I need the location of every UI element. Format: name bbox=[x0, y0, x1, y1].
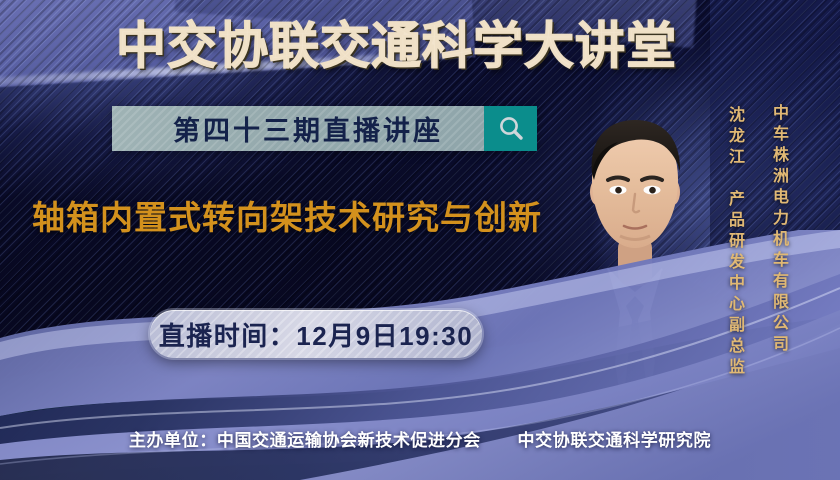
speaker-organization: 中车株洲电力机车有限公司 bbox=[766, 104, 790, 354]
page-title: 中交协联交通科学大讲堂 bbox=[116, 16, 716, 78]
broadcast-time-badge: 直播时间：12月9日19:30 bbox=[150, 310, 482, 358]
session-banner: 第四十三期直播讲座 bbox=[112, 106, 537, 151]
organizer-secondary: 中交协联交通科学研究院 bbox=[518, 431, 712, 450]
search-button[interactable] bbox=[484, 106, 537, 151]
search-icon bbox=[496, 114, 526, 144]
organizer-footer: 主办单位：中国交通运输协会新技术促进分会 中交协联交通科学研究院 bbox=[0, 426, 840, 451]
organizer-primary: 主办单位：中国交通运输协会新技术促进分会 bbox=[129, 431, 481, 450]
session-label: 第四十三期直播讲座 bbox=[112, 109, 484, 148]
lecture-topic: 轴箱内置式转向架技术研究与创新 bbox=[32, 196, 652, 240]
poster-canvas: 中交协联交通科学大讲堂 第四十三期直播讲座 轴箱内置式转向架技术研究与创新 直播… bbox=[0, 0, 840, 480]
broadcast-time-label: 直播时间：12月9日19:30 bbox=[159, 316, 473, 353]
speaker-name-title: 沈龙江 产品研发中心副总监 bbox=[722, 106, 746, 356]
